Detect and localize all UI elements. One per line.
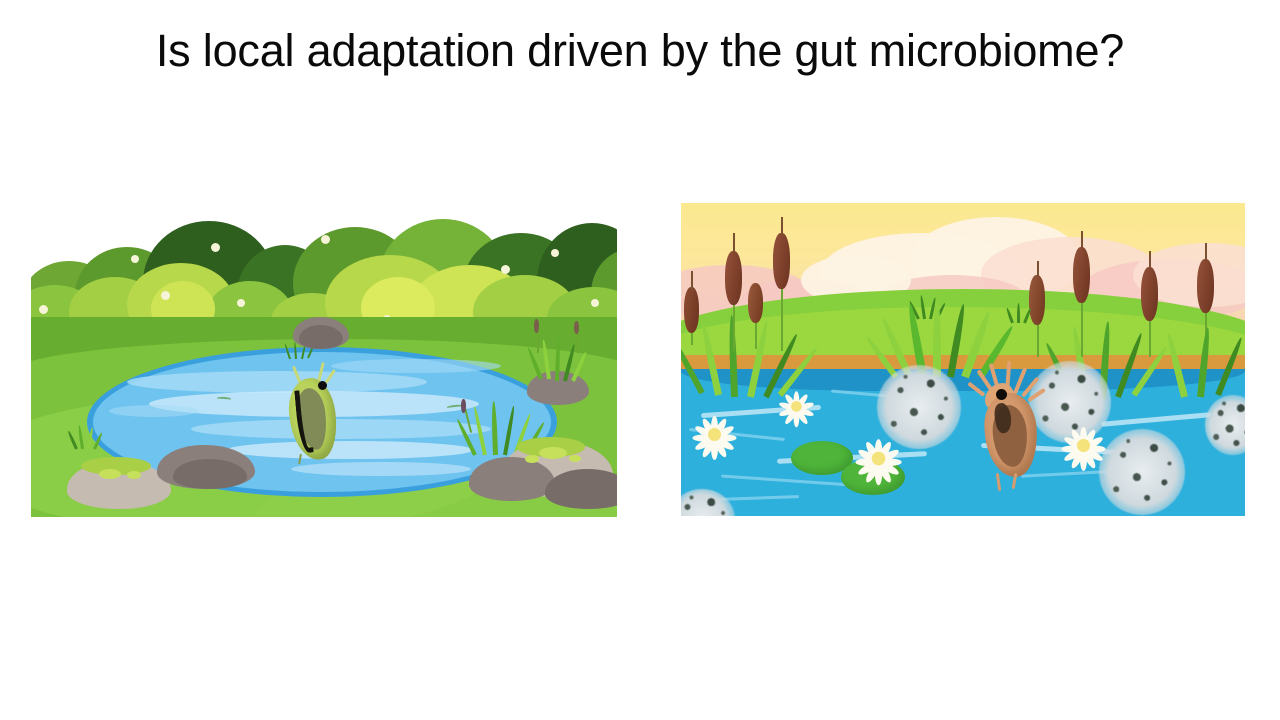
algae-colony-3 <box>1099 429 1185 515</box>
page-title: Is local adaptation driven by the gut mi… <box>0 22 1280 80</box>
water-lily-4 <box>1055 417 1111 473</box>
cattail-head <box>1029 275 1045 325</box>
daphnia-leg-1 <box>996 473 1001 491</box>
moss-right-b <box>539 447 567 459</box>
water-highlight-4 <box>227 441 473 459</box>
pond-habitat-illustration-right[interactable] <box>681 203 1245 516</box>
cattail-head <box>748 283 763 323</box>
rock-left-grey-shade <box>173 459 247 489</box>
pond-habitat-illustration-left[interactable] <box>31 219 617 517</box>
daphnia-antenna-tip <box>325 369 336 384</box>
cattail-head <box>1197 259 1214 313</box>
cattail-head <box>1073 247 1090 303</box>
moss-left-b <box>99 469 121 479</box>
cattail-head <box>773 233 790 289</box>
water-highlight-3 <box>191 419 491 439</box>
water-lily-3 <box>848 428 909 489</box>
moss-right-c <box>525 455 539 463</box>
daphnia-antenna-branch-7 <box>967 382 985 397</box>
moss-right-d <box>569 455 581 462</box>
water-lily-1 <box>687 407 741 461</box>
moss-left-c <box>127 471 141 479</box>
daphnia-brown[interactable] <box>967 363 1047 493</box>
water-highlight-6 <box>291 462 471 476</box>
cattail-head <box>725 251 742 305</box>
cattail-head <box>684 287 699 333</box>
daphnia-eye <box>318 381 327 390</box>
water-lily-2 <box>779 389 813 423</box>
rock-top-shade <box>299 325 343 349</box>
daphnia-green[interactable] <box>286 362 340 460</box>
cattail-head <box>1141 267 1158 321</box>
daphnia-eye <box>996 389 1007 400</box>
slide-canvas: Is local adaptation driven by the gut mi… <box>0 0 1280 720</box>
water-highlight-7 <box>109 405 199 417</box>
water-highlight-5 <box>331 359 501 373</box>
water-highlight-1 <box>127 371 427 393</box>
